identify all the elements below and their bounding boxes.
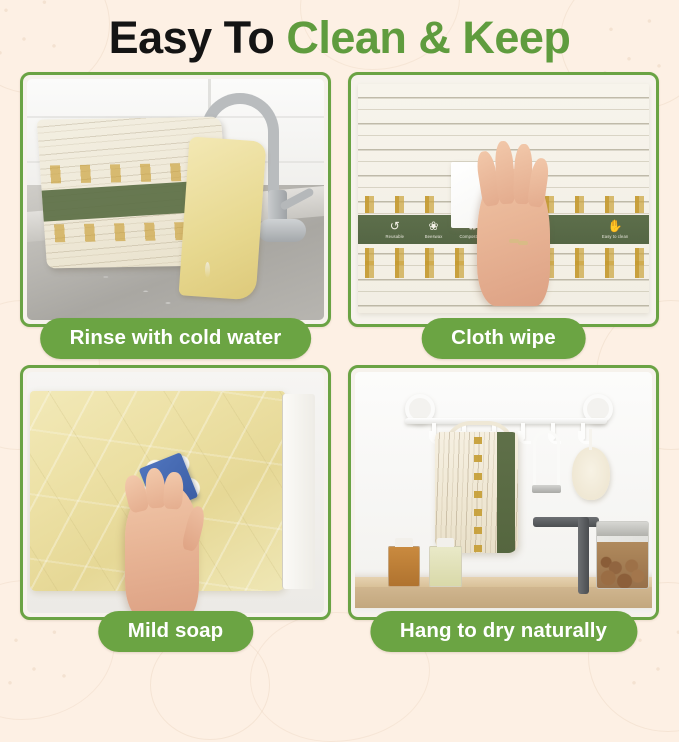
rack-hook-icon (521, 423, 525, 440)
photo-frame-cloth-wipe: ↺ Reusable ❀ Beeswax ♻ Compostable (348, 72, 659, 327)
page-title-dark-part: Easy To (109, 12, 287, 63)
photo-frame-hang-dry (348, 365, 659, 620)
caption-hang-dry: Hang to dry naturally (370, 611, 637, 652)
easy-to-clean-icon: ✋ (608, 220, 623, 232)
band-label: Easy to clean (602, 234, 628, 239)
panel-hang-dry: Hang to dry naturally (348, 365, 659, 655)
caption-rinse: Rinse with cold water (40, 318, 312, 359)
beeswax-bag-hanging (435, 432, 518, 553)
flat-beeswax-wrap: ↺ Reusable ❀ Beeswax ♻ Compostable (358, 84, 649, 313)
photo-frame-mild-soap (20, 365, 331, 620)
band-item-beeswax: ❀ Beeswax (414, 220, 453, 239)
jar-lid (596, 522, 649, 535)
jar-contents (597, 542, 648, 588)
panel-mild-soap: Mild soap (20, 365, 331, 655)
caption-cloth-wipe: Cloth wipe (421, 318, 586, 359)
kitchen-tap (533, 517, 598, 594)
rack-hook-icon (581, 423, 585, 440)
page-title: Easy To Clean & Keep (0, 14, 679, 61)
band-label: Beeswax (425, 234, 443, 239)
photo-rinse-wrap-under-faucet (27, 79, 324, 320)
photo-frame-rinse (20, 72, 331, 327)
panel-cloth-wipe: ↺ Reusable ❀ Beeswax ♻ Compostable (348, 72, 659, 360)
beeswax-wrap-yellow (179, 137, 267, 301)
feature-grid: Rinse with cold water ↺ Reusable ❀ (20, 72, 659, 664)
page-title-green-part: Clean & Keep (286, 12, 570, 63)
band-item-reusable: ↺ Reusable (375, 220, 414, 239)
photo-bag-hanging-to-dry (355, 372, 652, 613)
panel-rinse: Rinse with cold water (20, 72, 331, 360)
band-item-easy-to-clean: ✋ Easy to clean (596, 220, 635, 239)
wrap-folded-edge (282, 394, 315, 589)
photo-cloth-wiping-wrap: ↺ Reusable ❀ Beeswax ♻ Compostable (355, 79, 652, 320)
gold-motif-stripe (474, 432, 481, 553)
tap-post (578, 517, 589, 594)
scrub-brush-icon (572, 447, 611, 500)
amber-bottle (388, 546, 421, 587)
glass-storage-jar (596, 521, 649, 588)
hand-wiping (477, 169, 550, 306)
band-label: Reusable (386, 234, 405, 239)
finger (163, 471, 184, 509)
peeler-icon (533, 430, 560, 488)
caption-mild-soap: Mild soap (98, 611, 253, 652)
ring (518, 241, 528, 245)
beeswax-icon: ❀ (429, 220, 439, 232)
reusable-icon: ↺ (390, 220, 400, 232)
photo-sponge-washing-wrap (27, 372, 324, 613)
bag-green-band (497, 432, 515, 553)
hand-holding-sponge (125, 485, 199, 613)
faucet-base (258, 219, 306, 242)
pale-bottle (429, 546, 462, 587)
